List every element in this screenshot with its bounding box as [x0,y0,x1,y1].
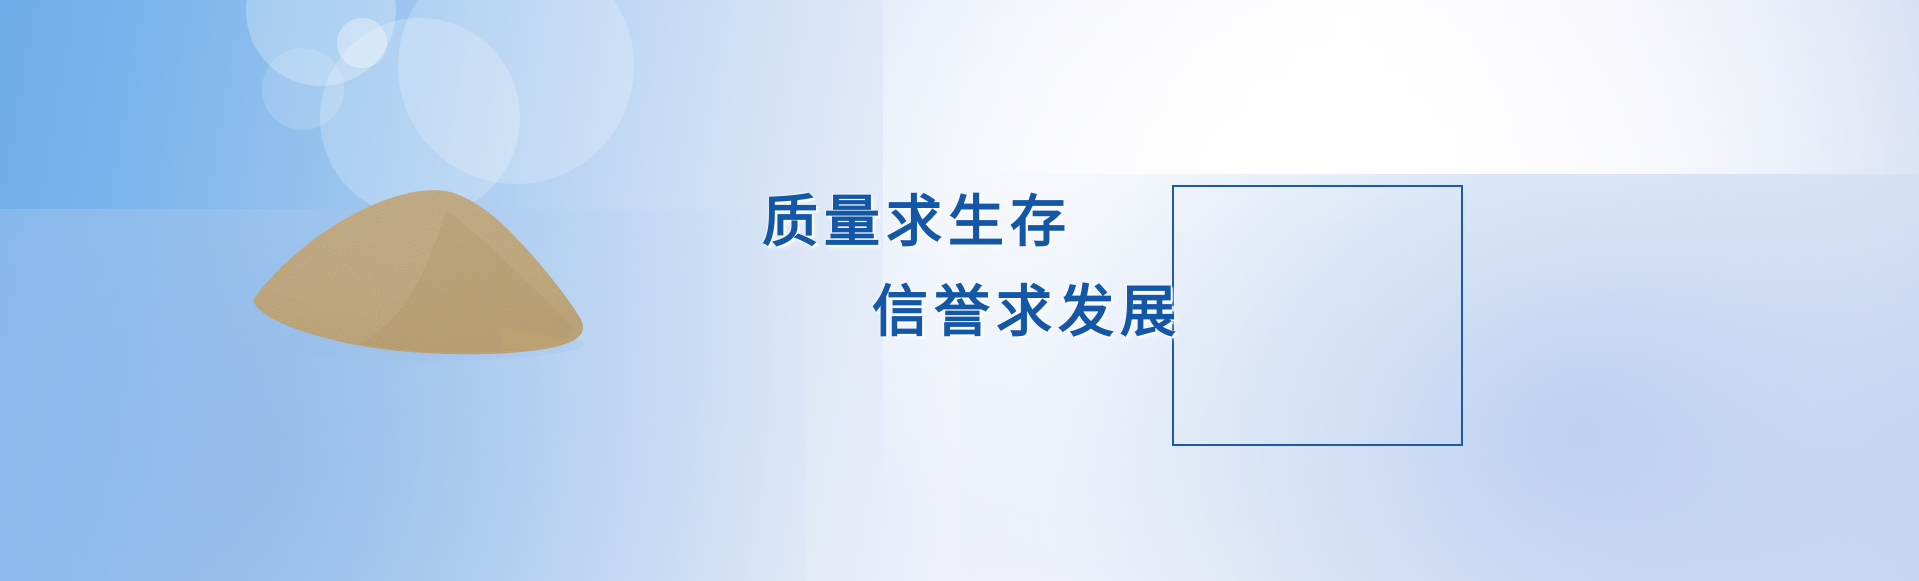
sand-pile-body [250,176,622,356]
hero-banner: 质量求生存 信誉求发展 [0,0,1919,581]
sand-pile-image [250,176,622,356]
sand-pile-graphic [250,176,622,356]
